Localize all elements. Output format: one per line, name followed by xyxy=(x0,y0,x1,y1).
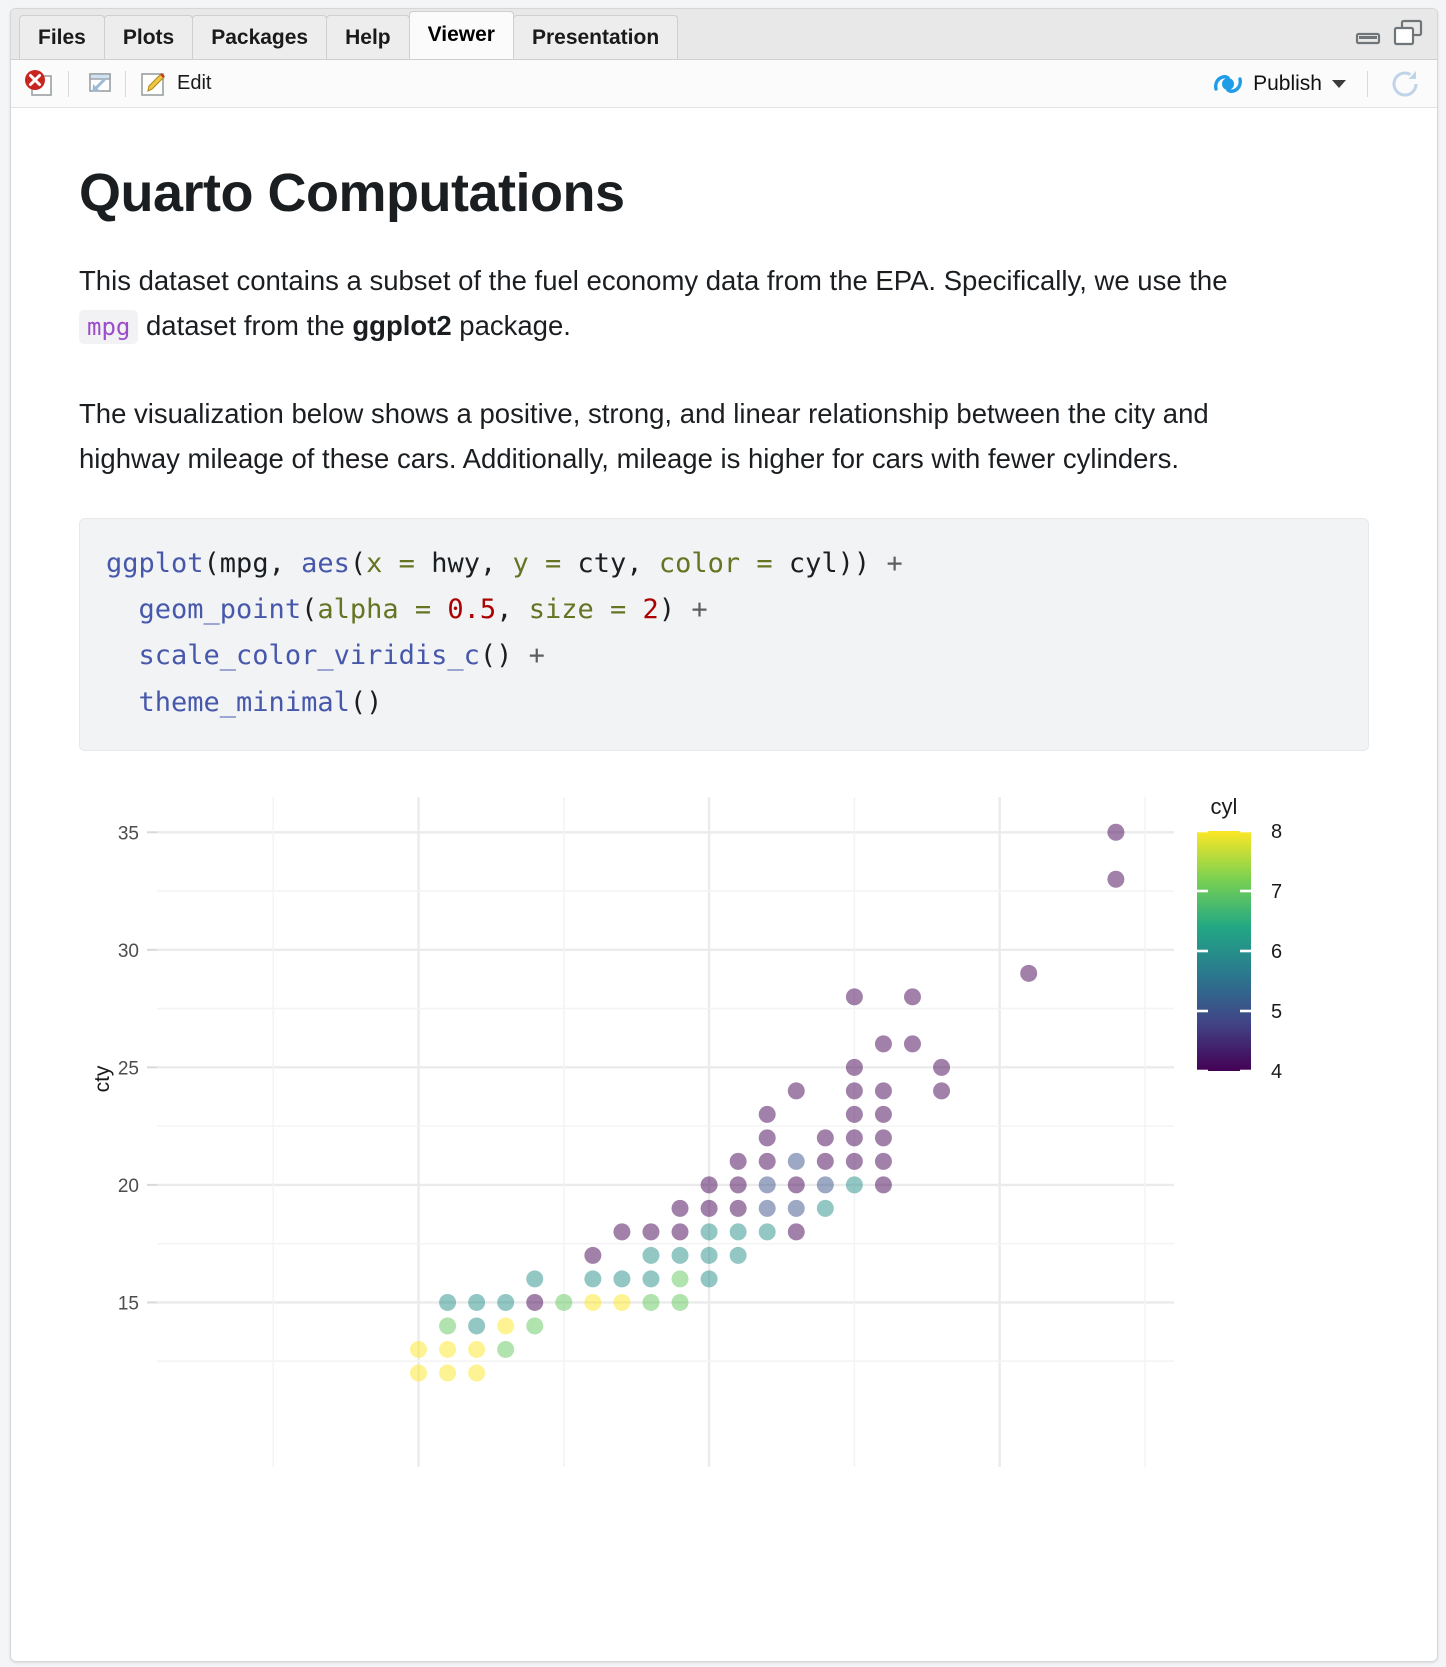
y-tick-label: 30 xyxy=(118,941,139,962)
data-point xyxy=(613,1224,630,1241)
data-point xyxy=(846,1059,863,1076)
data-point xyxy=(875,1177,892,1194)
data-point xyxy=(875,1106,892,1123)
data-point xyxy=(759,1130,776,1147)
colorbar-legend: cyl 87654 xyxy=(1197,794,1282,1083)
toolbar-divider-1 xyxy=(68,71,69,97)
data-point xyxy=(759,1177,776,1194)
data-point xyxy=(846,1083,863,1100)
data-point xyxy=(642,1294,659,1311)
data-point xyxy=(846,1153,863,1170)
grid-major xyxy=(157,797,1174,1467)
data-point xyxy=(468,1365,485,1382)
data-point xyxy=(642,1224,659,1241)
data-point xyxy=(788,1153,805,1170)
page-title: Quarto Computations xyxy=(79,164,1369,223)
data-point xyxy=(759,1200,776,1217)
para1-text-a: This dataset contains a subset of the fu… xyxy=(79,265,1228,296)
data-point xyxy=(672,1271,689,1288)
data-points xyxy=(410,824,1124,1382)
data-point xyxy=(468,1341,485,1358)
data-point xyxy=(730,1200,747,1217)
data-point xyxy=(788,1224,805,1241)
data-point xyxy=(701,1200,718,1217)
data-point xyxy=(497,1294,514,1311)
data-point xyxy=(613,1271,630,1288)
data-point xyxy=(672,1224,689,1241)
data-point xyxy=(468,1294,485,1311)
popout-button[interactable] xyxy=(80,69,114,99)
data-point xyxy=(817,1153,834,1170)
data-point xyxy=(642,1247,659,1264)
data-point xyxy=(439,1365,456,1382)
paragraph-1: This dataset contains a subset of the fu… xyxy=(79,259,1289,348)
y-tick-label: 35 xyxy=(118,824,139,845)
minimize-icon[interactable] xyxy=(1355,20,1381,46)
y-tick-label: 20 xyxy=(118,1176,139,1197)
data-point xyxy=(584,1247,601,1264)
data-point xyxy=(875,1036,892,1053)
edit-icon xyxy=(137,69,169,99)
tab-help[interactable]: Help xyxy=(326,15,410,59)
edit-button[interactable]: Edit xyxy=(137,69,211,99)
data-point xyxy=(1107,824,1124,841)
data-point xyxy=(497,1318,514,1335)
refresh-icon[interactable] xyxy=(1389,67,1423,101)
window-controls xyxy=(1355,19,1423,47)
tab-packages[interactable]: Packages xyxy=(192,15,327,59)
data-point xyxy=(410,1341,427,1358)
data-point xyxy=(526,1294,543,1311)
y-axis-title: cty xyxy=(91,1065,114,1092)
data-point xyxy=(526,1318,543,1335)
inline-code-mpg: mpg xyxy=(79,310,138,344)
tab-files[interactable]: Files xyxy=(19,15,105,59)
data-point xyxy=(439,1294,456,1311)
data-point xyxy=(701,1247,718,1264)
publish-label: Publish xyxy=(1253,72,1322,96)
code-line-3: scale_color_viridis_c() + xyxy=(106,640,545,671)
para1-text-c: package. xyxy=(452,310,571,341)
maximize-icon[interactable] xyxy=(1393,19,1423,47)
data-point xyxy=(846,989,863,1006)
data-point xyxy=(672,1247,689,1264)
data-point xyxy=(933,1083,950,1100)
legend-tick-label: 8 xyxy=(1271,821,1282,843)
publish-dropdown-caret[interactable] xyxy=(1332,80,1346,88)
data-point xyxy=(817,1177,834,1194)
data-point xyxy=(846,1106,863,1123)
tab-plots[interactable]: Plots xyxy=(104,15,193,59)
stop-button[interactable] xyxy=(23,69,57,99)
toolbar-right-group: Publish xyxy=(1211,67,1423,101)
data-point xyxy=(410,1365,427,1382)
data-point xyxy=(701,1177,718,1194)
data-point xyxy=(468,1318,485,1335)
data-point xyxy=(730,1224,747,1241)
data-point xyxy=(497,1341,514,1358)
data-point xyxy=(584,1294,601,1311)
data-point xyxy=(555,1294,572,1311)
data-point xyxy=(642,1271,659,1288)
publish-icon xyxy=(1211,71,1245,97)
data-point xyxy=(701,1271,718,1288)
scatter-plot: 1520253035 cty cyl xyxy=(79,779,1369,1479)
publish-button[interactable]: Publish xyxy=(1211,71,1322,97)
data-point xyxy=(1107,871,1124,888)
viewer-window: Files Plots Packages Help Viewer Present… xyxy=(10,8,1438,1662)
data-point xyxy=(933,1059,950,1076)
document-body: Quarto Computations This dataset contain… xyxy=(11,108,1437,1661)
show-in-new-window-icon xyxy=(80,69,114,99)
data-point xyxy=(439,1341,456,1358)
code-line-2: geom_point(alpha = 0.5, size = 2) + xyxy=(106,594,708,625)
data-point xyxy=(846,1177,863,1194)
data-point xyxy=(788,1177,805,1194)
legend-tick-label: 6 xyxy=(1271,941,1282,963)
data-point xyxy=(904,989,921,1006)
chart-svg: 1520253035 cty cyl xyxy=(79,779,1369,1479)
y-axis-tick-labels: 1520253035 xyxy=(118,824,157,1315)
code-line-1: ggplot(mpg, aes(x = hwy, y = cty, color … xyxy=(106,548,903,579)
grid-minor xyxy=(157,797,1174,1467)
legend-tick-label: 5 xyxy=(1271,1001,1282,1023)
data-point xyxy=(526,1271,543,1288)
data-point xyxy=(817,1200,834,1217)
data-point xyxy=(759,1153,776,1170)
toolbar-divider-2 xyxy=(125,71,126,97)
legend-tick-label: 7 xyxy=(1271,881,1282,903)
data-point xyxy=(817,1130,834,1147)
y-tick-label: 15 xyxy=(118,1294,139,1315)
code-line-4: theme_minimal() xyxy=(106,687,382,718)
data-point xyxy=(875,1153,892,1170)
legend-tick-label: 4 xyxy=(1271,1061,1282,1083)
data-point xyxy=(672,1200,689,1217)
y-tick-label: 25 xyxy=(118,1059,139,1080)
data-point xyxy=(788,1200,805,1217)
legend-title: cyl xyxy=(1211,794,1238,819)
data-point xyxy=(875,1083,892,1100)
data-point xyxy=(730,1177,747,1194)
code-block: ggplot(mpg, aes(x = hwy, y = cty, color … xyxy=(79,518,1369,752)
data-point xyxy=(759,1106,776,1123)
para1-text-b: dataset from the xyxy=(138,310,352,341)
viewer-toolbar: Edit Publish xyxy=(11,60,1437,108)
data-point xyxy=(846,1130,863,1147)
tab-bar: Files Plots Packages Help Viewer Present… xyxy=(11,9,1437,60)
stop-icon xyxy=(23,69,57,99)
data-point xyxy=(1020,965,1037,982)
edit-label: Edit xyxy=(177,72,211,95)
data-point xyxy=(788,1083,805,1100)
data-point xyxy=(875,1130,892,1147)
legend-tick-labels: 87654 xyxy=(1271,821,1282,1083)
data-point xyxy=(672,1294,689,1311)
para1-bold-ggplot2: ggplot2 xyxy=(352,310,451,341)
paragraph-2: The visualization below shows a positive… xyxy=(79,392,1289,481)
data-point xyxy=(584,1271,601,1288)
data-point xyxy=(904,1036,921,1053)
data-point xyxy=(730,1153,747,1170)
data-point xyxy=(439,1318,456,1335)
tab-viewer[interactable]: Viewer xyxy=(409,11,514,59)
toolbar-divider-3 xyxy=(1367,71,1368,97)
tab-presentation[interactable]: Presentation xyxy=(513,15,678,59)
data-point xyxy=(730,1247,747,1264)
data-point xyxy=(701,1224,718,1241)
data-point xyxy=(613,1294,630,1311)
data-point xyxy=(759,1224,776,1241)
